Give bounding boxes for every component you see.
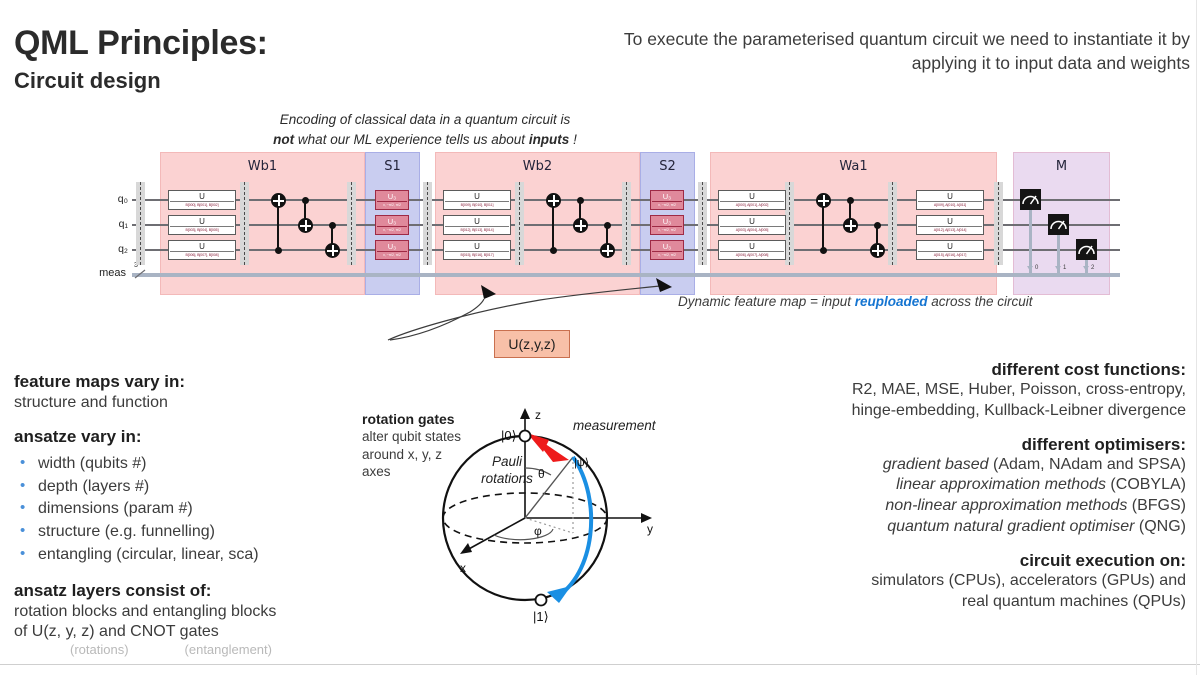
caption-mid: what our ML experience tells us about [294, 132, 529, 147]
execution-line-1: simulators (CPUs), accelerators (GPUs) a… [690, 571, 1186, 592]
right-edge-divider [1196, 0, 1197, 675]
barrier [515, 182, 524, 265]
page-title: QML Principles: [14, 24, 268, 63]
gate-params: x, −π/2, π/2 [652, 251, 682, 257]
cost-functions-line-1: R2, MAE, MSE, Huber, Poisson, cross-entr… [690, 380, 1186, 401]
cnot-target[interactable] [843, 218, 858, 233]
qubit-label-0: q₀ [106, 193, 128, 205]
cnot-control[interactable] [820, 247, 827, 254]
s-gate[interactable]: U₃ x, −π/2, π/2 [650, 215, 684, 235]
bloch-pauli-rotations-label: Pauli rotations [472, 454, 542, 488]
gate-name: U [719, 192, 785, 201]
gate-params: B[006], B[007], B[008] [170, 251, 234, 258]
cnot-target[interactable] [573, 218, 588, 233]
block-label-wa1: Wa1 [711, 159, 996, 174]
dyn-reuploaded: reuploaded [855, 294, 928, 309]
caption-not: not [273, 132, 294, 147]
u-gate[interactable]: U B[015], B[016], B[017] [443, 240, 511, 260]
barrier [785, 182, 794, 265]
cnot-target[interactable] [546, 193, 561, 208]
cnot-control[interactable] [550, 247, 557, 254]
caption-inputs: inputs [529, 132, 570, 147]
right-text-column: different cost functions: R2, MAE, MSE, … [690, 360, 1186, 612]
cnot-control[interactable] [302, 197, 309, 204]
faint-entanglement: (entanglement) [185, 642, 272, 657]
u-zyz-callout-box[interactable]: U(z,y,z) [494, 330, 570, 358]
gate-params: x, −π/2, π/2 [652, 201, 682, 207]
gate-params: x, −π/2, π/2 [652, 226, 682, 232]
classical-register-label: meas [78, 267, 126, 279]
execution-line-2: real quantum machines (QPUs) [690, 592, 1186, 613]
gate-name: U [719, 242, 785, 251]
ansatze-bullet-list: width (qubits #) depth (layers #) dimens… [14, 453, 354, 567]
dynamic-feature-map-note: Dynamic feature map = input reuploaded a… [678, 294, 1033, 309]
gate-params: B[012], B[013], B[014] [445, 226, 509, 233]
cnot-control[interactable] [275, 247, 282, 254]
bloch-projection-equator [525, 518, 573, 533]
optimiser-kind: quantum natural gradient optimiser [887, 518, 1134, 535]
slide: QML Principles: Circuit design To execut… [0, 0, 1200, 675]
optimisers-heading: different optimisers: [690, 435, 1186, 455]
optimiser-row: linear approximation methods (COBYLA) [690, 475, 1186, 496]
barrier [423, 182, 432, 265]
dyn-pre: Dynamic feature map = input [678, 294, 855, 309]
ansatz-layers-heading: ansatz layers consist of: [14, 581, 354, 601]
bloch-ket1-label: |1⟩ [533, 609, 549, 624]
bloch-measurement-label: measurement [573, 418, 656, 433]
bloch-phi-label: φ [534, 524, 542, 538]
cnot-target[interactable] [816, 193, 831, 208]
list-item: entangling (circular, linear, sca) [14, 544, 354, 567]
list-item: dimensions (param #) [14, 498, 354, 521]
u-gate[interactable]: U B[000], B[001], B[002] [168, 190, 236, 210]
cost-functions-line-2: hinge-embedding, Kullback-Leibner diverg… [690, 401, 1186, 422]
gate-name: U [169, 192, 235, 201]
rotation-gates-body: alter qubit states around x, y, z axes [362, 428, 474, 481]
gate-name: U₃ [376, 192, 408, 201]
barrier [888, 182, 897, 265]
gate-params: A[006], A[007], A[008] [720, 251, 784, 258]
cnot-target[interactable] [325, 243, 340, 258]
block-label-s2: S2 [641, 159, 694, 174]
ansatz-layers-line-1: rotation blocks and entangling blocks [14, 602, 354, 622]
barrier [136, 182, 145, 265]
gate-name: U [444, 217, 510, 226]
bloch-pole-0 [520, 431, 531, 442]
s-gate[interactable]: U₃ x, −π/2, π/2 [650, 190, 684, 210]
cnot-control[interactable] [577, 197, 584, 204]
cnot-target[interactable] [271, 193, 286, 208]
list-item: depth (layers #) [14, 476, 354, 499]
s-gate[interactable]: U₃ x, −π/2, π/2 [375, 190, 409, 210]
gate-params: B[003], B[004], B[005] [170, 226, 234, 233]
faint-rotations: (rotations) [70, 642, 129, 657]
gate-params: x, −π/2, π/2 [377, 251, 407, 257]
measure-gate[interactable] [1020, 189, 1041, 210]
gate-name: U [719, 217, 785, 226]
measure-arrow [1055, 266, 1061, 271]
meter-icon [1020, 189, 1041, 210]
ansatze-heading: ansatze vary in: [14, 427, 354, 447]
measure-connector [1029, 200, 1032, 275]
optimiser-kind: gradient based [883, 456, 989, 473]
measure-arrow [1027, 266, 1033, 271]
measure-arrow [1083, 266, 1089, 271]
rotation-gates-heading: rotation gates [362, 411, 455, 427]
classical-register-wire [132, 273, 1120, 277]
block-label-s1: S1 [366, 159, 419, 174]
u-gate[interactable]: U A[000], A[001], A[002] [718, 190, 786, 210]
u-gate[interactable]: U A[009], A[010], A[011] [916, 190, 984, 210]
barrier [622, 182, 631, 265]
cnot-control[interactable] [604, 222, 611, 229]
cnot-control[interactable] [329, 222, 336, 229]
gate-params: A[009], A[010], A[011] [918, 201, 982, 208]
bloch-y-label: y [647, 522, 653, 536]
s-gate[interactable]: U₃ x, −π/2, π/2 [375, 240, 409, 260]
gate-name: U [917, 192, 983, 201]
caption-post: ! [569, 132, 577, 147]
gate-name: U [917, 217, 983, 226]
list-item: structure (e.g. funnelling) [14, 521, 354, 544]
gate-name: U [169, 217, 235, 226]
gate-name: U₃ [376, 242, 408, 251]
header-note: To execute the parameterised quantum cir… [610, 28, 1190, 75]
faint-annotations: (rotations)(entanglement) [14, 642, 354, 657]
cnot-control[interactable] [847, 197, 854, 204]
dyn-post: across the circuit [927, 294, 1032, 309]
barrier [240, 182, 249, 265]
left-text-column: feature maps vary in: structure and func… [14, 372, 354, 657]
cost-functions-heading: different cost functions: [690, 360, 1186, 380]
u-gate[interactable]: U A[003], A[004], A[005] [718, 215, 786, 235]
meter-icon [1076, 239, 1097, 260]
optimiser-row: quantum natural gradient optimiser (QNG) [690, 517, 1186, 538]
gate-name: U [917, 242, 983, 251]
gate-params: B[000], B[001], B[002] [170, 201, 234, 208]
feature-maps-body: structure and function [14, 393, 354, 413]
optimiser-examples: (COBYLA) [1106, 476, 1186, 493]
u-gate[interactable]: U A[012], A[013], A[014] [916, 215, 984, 235]
meter-tick-2: 2 [1091, 265, 1094, 271]
u-gate[interactable]: U B[009], B[010], B[011] [443, 190, 511, 210]
qubit-label-2: q₂ [106, 243, 128, 255]
bloch-ket0-label: |0⟩ [501, 428, 517, 443]
gate-params: B[015], B[016], B[017] [445, 251, 509, 258]
footer-divider [0, 664, 1200, 665]
optimiser-examples: (QNG) [1134, 518, 1186, 535]
gate-params: B[009], B[010], B[011] [445, 201, 509, 208]
s-gate[interactable]: U₃ x, −π/2, π/2 [650, 240, 684, 260]
optimiser-kind: linear approximation methods [896, 476, 1106, 493]
qubit-label-1: q₁ [106, 218, 128, 230]
measure-gate[interactable] [1048, 214, 1069, 235]
bloch-ketpsi-label: |ψ⟩ [574, 457, 589, 469]
ansatz-layers-line-2: of U(z, y, z) and CNOT gates [14, 622, 354, 642]
optimiser-examples: (Adam, NAdam and SPSA) [989, 456, 1186, 473]
u-gate[interactable]: U A[006], A[007], A[008] [718, 240, 786, 260]
gate-params: A[003], A[004], A[005] [720, 226, 784, 233]
meter-icon [1048, 214, 1069, 235]
gate-name: U₃ [651, 242, 683, 251]
gate-params: A[012], A[013], A[014] [918, 226, 982, 233]
block-label-wb1: Wb1 [161, 159, 364, 174]
u-gate[interactable]: U B[006], B[007], B[008] [168, 240, 236, 260]
gate-name: U [444, 242, 510, 251]
barrier [347, 182, 356, 265]
gate-name: U [444, 192, 510, 201]
feature-maps-heading: feature maps vary in: [14, 372, 354, 392]
optimiser-row: non-linear approximation methods (BFGS) [690, 496, 1186, 517]
cnot-control[interactable] [874, 222, 881, 229]
u-gate[interactable]: U B[012], B[013], B[014] [443, 215, 511, 235]
gate-params: A[015], A[016], A[017] [918, 251, 982, 258]
cnot-target[interactable] [600, 243, 615, 258]
meter-tick-1: 1 [1063, 265, 1066, 271]
barrier [698, 182, 707, 265]
u-gate[interactable]: U A[015], A[016], A[017] [916, 240, 984, 260]
cnot-target[interactable] [870, 243, 885, 258]
quantum-circuit-diagram: Wb1 S1 Wb2 S2 Wa1 M q₀ q₁ q₂ meas 3 [110, 152, 1120, 297]
bloch-pole-1 [536, 595, 547, 606]
list-item: width (qubits #) [14, 453, 354, 476]
meter-tick-0: 0 [1035, 265, 1038, 271]
bloch-z-label: z [535, 408, 541, 422]
block-label-wb2: Wb2 [436, 159, 639, 174]
cnot-target[interactable] [298, 218, 313, 233]
gate-params: x, −π/2, π/2 [377, 226, 407, 232]
gate-name: U [169, 242, 235, 251]
gate-name: U₃ [651, 192, 683, 201]
optimiser-kind: non-linear approximation methods [885, 497, 1127, 514]
gate-name: U₃ [651, 217, 683, 226]
barrier [994, 182, 1003, 265]
gate-params: A[000], A[001], A[002] [720, 201, 784, 208]
gate-name: U₃ [376, 217, 408, 226]
block-label-m: M [1014, 159, 1109, 174]
u-gate[interactable]: U B[003], B[004], B[005] [168, 215, 236, 235]
page-subtitle: Circuit design [14, 68, 161, 94]
circuit-caption: Encoding of classical data in a quantum … [200, 110, 650, 149]
optimiser-row: gradient based (Adam, NAdam and SPSA) [690, 455, 1186, 476]
execution-heading: circuit execution on: [690, 551, 1186, 571]
caption-line-1: Encoding of classical data in a quantum … [280, 112, 570, 127]
optimiser-examples: (BFGS) [1127, 497, 1186, 514]
bloch-x-label: x [460, 561, 466, 575]
gate-params: x, −π/2, π/2 [377, 201, 407, 207]
s-gate[interactable]: U₃ x, −π/2, π/2 [375, 215, 409, 235]
bloch-rotation-arrowhead [547, 586, 571, 603]
measure-gate[interactable] [1076, 239, 1097, 260]
bloch-x-axis [467, 518, 525, 550]
